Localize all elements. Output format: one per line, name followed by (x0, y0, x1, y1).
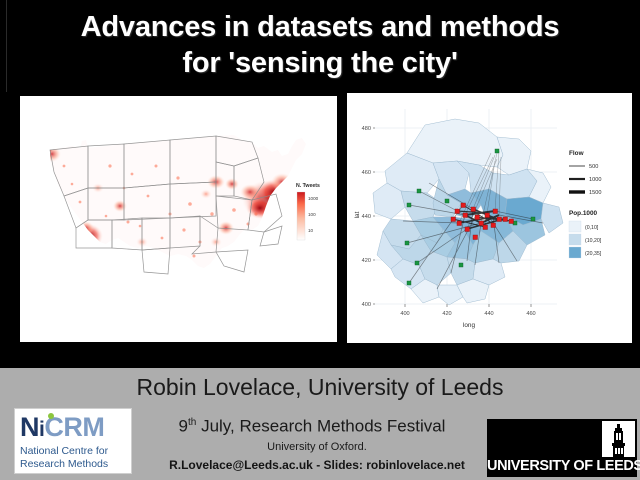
presentation-slide: Advances in datasets and methods for 'se… (0, 0, 640, 480)
flow-legend-key-500: 500 (589, 164, 598, 170)
university-of-leeds-logo: UNIVERSITY OF LEEDS (487, 419, 637, 477)
flow-xtick-400: 400 (400, 311, 409, 317)
pop-legend-bin-2: (10,20] (585, 238, 602, 244)
ncrm-wordmark: NiCRM (20, 412, 126, 445)
flow-ytick-480: 480 (362, 126, 371, 132)
pop-legend-bin-3: (20,35] (585, 251, 602, 257)
flow-legend-key-1000: 1000 (589, 177, 601, 183)
flow-ytick-420: 420 (362, 258, 371, 264)
venue-line: University of Oxford. (142, 440, 492, 455)
leeds-tower-icon (602, 421, 635, 457)
page-title: Advances in datasets and methods for 'se… (0, 2, 640, 88)
ncrm-subtitle-line-2: Research Methods (20, 458, 126, 471)
ncrm-green-dot-icon (48, 413, 54, 419)
us-legend-title: N. Tweets (296, 183, 320, 189)
flow-legend-title: Flow (569, 150, 584, 157)
ncrm-logo: NiCRM National Centre for Research Metho… (14, 408, 132, 474)
flow-xtick-460: 460 (526, 311, 535, 317)
leeds-wordmark: UNIVERSITY OF LEEDS (487, 458, 637, 475)
event-name: July, Research Methods Festival (196, 417, 445, 436)
event-line: 9th July, Research Methods Festival (132, 412, 492, 438)
flow-xtick-440: 440 (484, 311, 493, 317)
us-legend-tick-10: 10 (308, 228, 314, 233)
flow-map-svg: 480 460 440 420 400 400 420 440 460 long… (347, 93, 632, 343)
ncrm-letter-n: N (20, 412, 39, 442)
presenter-name: Robin Lovelace, University of Leeds (0, 372, 640, 402)
pop-legend-title: Pop.1000 (569, 210, 598, 217)
ncrm-subtitle-line-1: National Centre for (20, 445, 126, 458)
flow-yaxis-label: lat (354, 211, 361, 218)
figure-leeds-commuter-flow-map: 480 460 440 420 400 400 420 440 460 long… (347, 93, 632, 343)
flow-ytick-460: 460 (362, 170, 371, 176)
flow-xaxis-label: long (463, 322, 476, 329)
title-line-1: Advances in datasets and methods (81, 9, 560, 45)
title-line-2: for 'sensing the city' (182, 45, 457, 81)
flow-ytick-440: 440 (362, 214, 371, 220)
us-map-svg: N. Tweets 1000 100 10 (20, 96, 337, 342)
pop-legend-bin-1: (0,10] (585, 225, 599, 231)
us-legend-tick-1000: 1000 (308, 196, 319, 201)
event-day: 9 (179, 417, 188, 436)
contact-line: R.Lovelace@Leeds.ac.uk - Slides: robinlo… (142, 457, 492, 473)
flow-legend-key-1500: 1500 (589, 190, 601, 196)
tower-icon-svg (602, 421, 635, 457)
us-legend-tick-100: 100 (308, 212, 316, 217)
flow-xtick-420: 420 (442, 311, 451, 317)
flow-ytick-400: 400 (362, 302, 371, 308)
figure-us-tweet-density-map: N. Tweets 1000 100 10 (20, 96, 337, 342)
